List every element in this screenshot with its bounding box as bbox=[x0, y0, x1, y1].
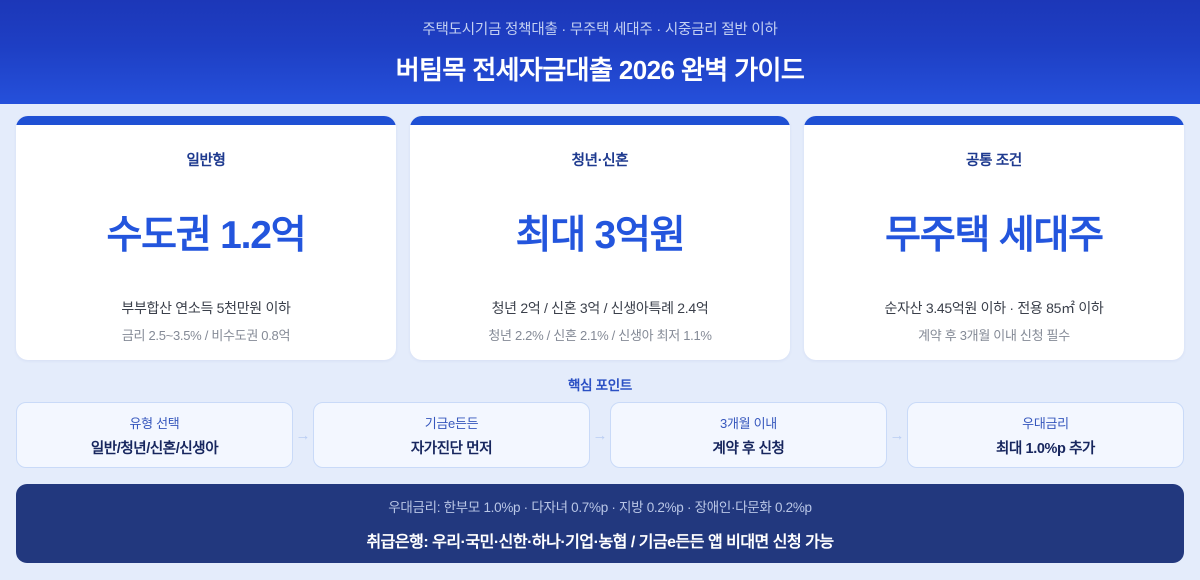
card-accent-bar bbox=[804, 116, 1184, 125]
card-body: 청년·신혼 최대 3억원 청년 2억 / 신혼 3억 / 신생아특례 2.4억 … bbox=[410, 125, 790, 360]
card-body: 공통 조건 무주택 세대주 순자산 3.45억원 이하 · 전용 85㎡ 이하 … bbox=[804, 125, 1184, 360]
card-accent-bar bbox=[16, 116, 396, 125]
card-accent-bar bbox=[410, 116, 790, 125]
step-item-self-diagnosis: 기금e든든 자가진단 먼저 bbox=[313, 402, 590, 468]
arrow-right-icon: → bbox=[293, 428, 313, 443]
page-header: 주택도시기금 정책대출 · 무주택 세대주 · 시중금리 절반 이하 버팀목 전… bbox=[0, 0, 1200, 104]
key-points-heading: 핵심 포인트 bbox=[16, 374, 1184, 394]
card-label: 청년·신혼 bbox=[572, 149, 629, 170]
card-note: 순자산 3.45억원 이하 · 전용 85㎡ 이하 bbox=[885, 298, 1104, 318]
step-main-label: 최대 1.0%p 추가 bbox=[996, 437, 1095, 458]
footer-banner: 우대금리: 한부모 1.0%p · 다자녀 0.7%p · 지방 0.2%p ·… bbox=[16, 484, 1184, 563]
step-top-label: 우대금리 bbox=[1022, 413, 1069, 432]
step-item-type-select: 유형 선택 일반/청년/신혼/신생아 bbox=[16, 402, 293, 468]
card-label: 일반형 bbox=[186, 149, 225, 170]
card-value: 무주택 세대주 bbox=[885, 204, 1103, 260]
arrow-right-icon: → bbox=[887, 428, 907, 443]
arrow-right-icon: → bbox=[590, 428, 610, 443]
footer-preferential-rates: 우대금리: 한부모 1.0%p · 다자녀 0.7%p · 지방 0.2%p ·… bbox=[388, 496, 811, 516]
summary-card-list: 일반형 수도권 1.2억 부부합산 연소득 5천만원 이하 금리 2.5~3.5… bbox=[0, 104, 1200, 360]
step-flow: 유형 선택 일반/청년/신혼/신생아 → 기금e든든 자가진단 먼저 → 3개월… bbox=[16, 402, 1184, 468]
step-item-preferential-rate: 우대금리 최대 1.0%p 추가 bbox=[907, 402, 1184, 468]
card-note: 청년 2억 / 신혼 3억 / 신생아특례 2.4억 bbox=[492, 298, 709, 318]
header-subtitle: 주택도시기금 정책대출 · 무주택 세대주 · 시중금리 절반 이하 bbox=[422, 18, 777, 39]
card-subnote: 금리 2.5~3.5% / 비수도권 0.8억 bbox=[122, 325, 290, 344]
page-title: 버팀목 전세자금대출 2026 완벽 가이드 bbox=[396, 50, 804, 87]
card-note: 부부합산 연소득 5천만원 이하 bbox=[121, 298, 290, 318]
key-points-section: 핵심 포인트 유형 선택 일반/청년/신혼/신생아 → 기금e든든 자가진단 먼… bbox=[0, 360, 1200, 468]
summary-card-youth-newlywed: 청년·신혼 최대 3억원 청년 2억 / 신혼 3억 / 신생아특례 2.4억 … bbox=[410, 116, 790, 360]
footer-section: 우대금리: 한부모 1.0%p · 다자녀 0.7%p · 지방 0.2%p ·… bbox=[0, 468, 1200, 580]
step-top-label: 3개월 이내 bbox=[720, 413, 777, 432]
step-main-label: 계약 후 신청 bbox=[713, 437, 785, 458]
summary-card-common-conditions: 공통 조건 무주택 세대주 순자산 3.45억원 이하 · 전용 85㎡ 이하 … bbox=[804, 116, 1184, 360]
summary-card-general: 일반형 수도권 1.2억 부부합산 연소득 5천만원 이하 금리 2.5~3.5… bbox=[16, 116, 396, 360]
step-top-label: 기금e든든 bbox=[425, 413, 479, 432]
step-main-label: 자가진단 먼저 bbox=[411, 437, 492, 458]
step-main-label: 일반/청년/신혼/신생아 bbox=[91, 437, 218, 458]
step-top-label: 유형 선택 bbox=[130, 413, 180, 432]
card-subnote: 계약 후 3개월 이내 신청 필수 bbox=[918, 325, 1070, 344]
card-value: 수도권 1.2억 bbox=[107, 204, 306, 260]
infographic-page: 주택도시기금 정책대출 · 무주택 세대주 · 시중금리 절반 이하 버팀목 전… bbox=[0, 0, 1200, 580]
step-item-apply-within-3-months: 3개월 이내 계약 후 신청 bbox=[610, 402, 887, 468]
card-subnote: 청년 2.2% / 신혼 2.1% / 신생아 최저 1.1% bbox=[488, 325, 711, 344]
card-body: 일반형 수도권 1.2억 부부합산 연소득 5천만원 이하 금리 2.5~3.5… bbox=[16, 125, 396, 360]
card-value: 최대 3억원 bbox=[516, 204, 685, 260]
card-label: 공통 조건 bbox=[966, 149, 1022, 170]
footer-banks: 취급은행: 우리·국민·신한·하나·기업·농협 / 기금e든든 앱 비대면 신청… bbox=[366, 528, 833, 552]
